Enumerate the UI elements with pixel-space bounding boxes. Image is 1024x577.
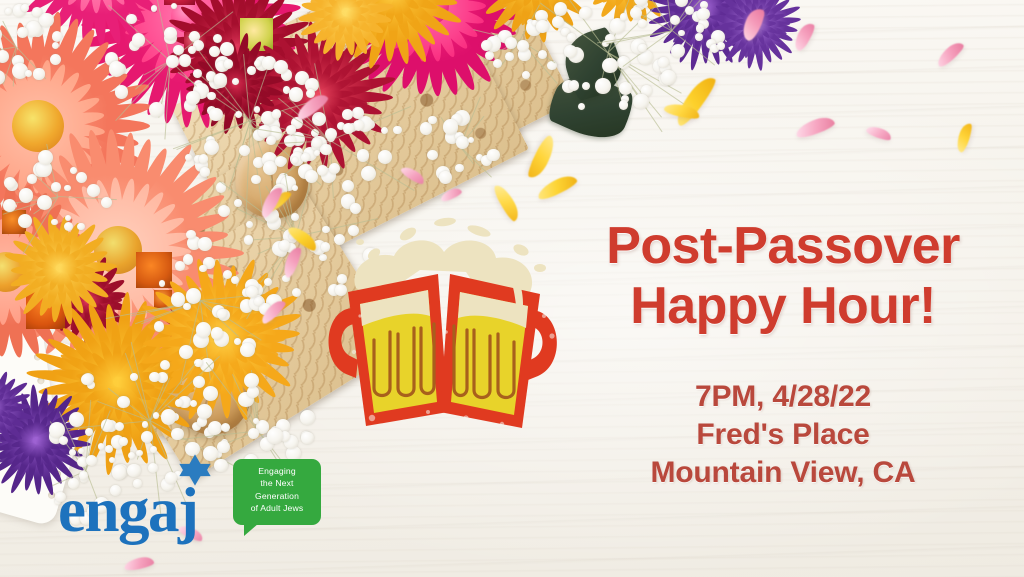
babys-breath-floret: [81, 374, 92, 385]
event-flyer: Post-Passover Happy Hour! 7PM, 4/28/22 F…: [0, 0, 1024, 577]
babys-breath-floret: [247, 66, 256, 75]
babys-breath-floret: [87, 184, 100, 197]
babys-breath-floret: [564, 45, 577, 58]
babys-breath-floret: [266, 136, 275, 145]
babys-breath-floret: [487, 149, 499, 161]
babys-breath-floret: [248, 428, 259, 439]
babys-breath-floret: [17, 27, 28, 38]
babys-breath-floret: [200, 167, 209, 176]
babys-breath-floret: [150, 446, 157, 453]
babys-breath-floret: [554, 2, 568, 16]
babys-breath-floret: [317, 165, 328, 176]
babys-breath-floret: [240, 343, 254, 357]
babys-breath-floret: [671, 44, 685, 58]
babys-breath-floret: [217, 441, 230, 454]
purple-aster: [0, 364, 36, 452]
babys-breath-floret: [59, 436, 68, 445]
babys-breath-floret: [254, 106, 261, 113]
babys-breath-floret: [161, 409, 176, 424]
babys-breath-floret: [661, 70, 676, 85]
babys-breath-floret: [70, 167, 77, 174]
babys-breath-floret: [132, 33, 146, 47]
babys-breath-floret: [179, 345, 193, 359]
event-venue: Fred's Place: [560, 416, 1006, 454]
babys-breath-floret: [218, 205, 230, 217]
babys-breath-floret: [3, 199, 16, 212]
babys-breath-floret: [695, 33, 702, 40]
babys-breath-floret: [51, 182, 61, 192]
babys-breath-floret: [352, 107, 364, 119]
babys-breath-floret: [197, 404, 212, 419]
babys-breath-floret: [234, 338, 241, 345]
babys-breath-floret: [455, 164, 463, 172]
babys-breath-floret: [685, 6, 694, 15]
tagline-speech-bubble: Engaging the Next Generation of Adult Je…: [233, 459, 321, 525]
babys-breath-floret: [264, 278, 272, 286]
babys-breath-floret: [274, 60, 288, 74]
babys-breath-floret: [602, 58, 618, 74]
babys-breath-floret: [209, 108, 222, 121]
babys-breath-floret: [37, 195, 52, 210]
tagline-line-4: of Adult Jews: [233, 502, 321, 514]
event-details: 7PM, 4/28/22 Fred's Place Mountain View,…: [560, 378, 1006, 492]
babys-breath-floret: [179, 54, 191, 66]
babys-breath-floret: [254, 60, 261, 67]
babys-breath-floret: [193, 69, 202, 78]
babys-breath-floret: [312, 138, 322, 148]
headline-line-1: Post-Passover: [606, 217, 959, 275]
engaj-logo[interactable]: engaj Engaging the Next Generation of Ad…: [58, 455, 324, 545]
babys-breath-floret: [291, 213, 299, 221]
babys-breath-floret: [286, 125, 296, 135]
tagline-line-2: the Next: [233, 477, 321, 489]
babys-breath-floret: [267, 428, 283, 444]
babys-breath-floret: [235, 111, 242, 118]
babys-breath-floret: [18, 214, 32, 228]
babys-breath-floret: [0, 50, 9, 63]
babys-breath-floret: [569, 80, 580, 91]
babys-breath-floret: [188, 46, 196, 54]
babys-breath-floret: [185, 154, 192, 161]
babys-breath-floret: [186, 288, 202, 304]
babys-breath-floret: [26, 21, 42, 37]
babys-breath-floret: [77, 223, 85, 231]
babys-breath-floret: [199, 154, 208, 163]
babys-breath-floret: [115, 85, 129, 99]
tagline-line-3: Generation: [233, 490, 321, 502]
babys-breath-floret: [214, 73, 227, 86]
babys-breath-floret: [610, 18, 625, 33]
babys-breath-floret: [101, 197, 112, 208]
star-of-david-icon: [178, 453, 212, 487]
babys-breath-floret: [164, 27, 176, 39]
babys-breath-floret: [64, 185, 71, 192]
babys-breath-floret: [595, 78, 611, 94]
babys-breath-floret: [159, 280, 165, 286]
babys-breath-floret: [175, 261, 185, 271]
babys-breath-floret: [196, 322, 211, 337]
babys-breath-floret: [149, 102, 164, 117]
babys-breath-floret: [183, 303, 190, 310]
babys-breath-floret: [208, 421, 222, 435]
babys-breath-floret: [251, 175, 260, 184]
clinking-beer-mugs-icon: [316, 212, 572, 444]
babys-breath-floret: [141, 431, 153, 443]
babys-breath-floret: [130, 373, 138, 381]
babys-breath-floret: [717, 42, 724, 49]
babys-breath-floret: [428, 116, 436, 124]
babys-breath-floret: [272, 109, 281, 118]
babys-breath-floret: [579, 7, 592, 20]
babys-breath-floret: [115, 422, 124, 431]
tagline-line-1: Engaging: [233, 465, 321, 477]
babys-breath-floret: [32, 7, 41, 16]
babys-breath-floret: [38, 150, 53, 165]
babys-breath-floret: [204, 140, 219, 155]
event-location: Mountain View, CA: [560, 454, 1006, 492]
babys-breath-floret: [420, 122, 432, 134]
yellow-chrysanthemum: [2, 210, 118, 326]
babys-breath-floret: [427, 150, 437, 160]
babys-breath-floret: [234, 199, 242, 207]
babys-breath-floret: [320, 144, 331, 155]
babys-breath-floret: [505, 37, 517, 49]
babys-breath-floret: [697, 8, 709, 20]
babys-breath-floret: [109, 61, 125, 77]
babys-breath-floret: [246, 286, 258, 298]
babys-breath-floret: [582, 82, 590, 90]
babys-breath-floret: [696, 24, 704, 32]
babys-breath-floret: [301, 432, 314, 445]
babys-breath-floret: [353, 120, 364, 131]
babys-breath-floret: [538, 50, 547, 59]
babys-breath-floret: [76, 172, 87, 183]
babys-breath-floret: [292, 157, 299, 164]
babys-breath-floret: [244, 235, 254, 245]
babys-breath-floret: [279, 240, 290, 251]
babys-breath-floret: [33, 68, 44, 79]
yellow-chrysanthemum: [296, 0, 396, 62]
event-time-date: 7PM, 4/28/22: [560, 378, 1006, 416]
babys-breath-floret: [21, 4, 29, 12]
logo-wordmark: engaj: [58, 479, 197, 542]
babys-breath-floret: [142, 421, 148, 427]
babys-breath-floret: [203, 386, 218, 401]
babys-breath-floret: [193, 376, 205, 388]
babys-breath-floret: [166, 55, 179, 68]
headline-line-2: Happy Hour!: [560, 276, 1006, 336]
babys-breath-floret: [239, 145, 250, 156]
babys-breath-floret: [39, 13, 53, 27]
babys-breath-floret: [517, 40, 529, 52]
page-title: Post-Passover Happy Hour!: [560, 216, 1006, 336]
babys-breath-floret: [154, 321, 164, 331]
babys-breath-floret: [105, 445, 113, 453]
babys-breath-floret: [198, 237, 211, 250]
babys-breath-floret: [117, 396, 130, 409]
babys-breath-floret: [567, 33, 576, 42]
babys-breath-floret: [505, 52, 514, 61]
babys-breath-floret: [119, 437, 128, 446]
babys-breath-floret: [217, 309, 227, 319]
babys-breath-floret: [199, 265, 206, 272]
babys-breath-floret: [670, 15, 680, 25]
babys-breath-floret: [485, 51, 494, 60]
babys-breath-floret: [393, 126, 401, 134]
babys-breath-floret: [231, 276, 239, 284]
babys-breath-floret: [211, 327, 223, 339]
babys-breath-floret: [186, 91, 199, 104]
babys-breath-floret: [325, 128, 337, 140]
babys-breath-floret: [343, 123, 354, 134]
babys-breath-floret: [98, 443, 104, 449]
babys-breath-floret: [224, 59, 234, 69]
